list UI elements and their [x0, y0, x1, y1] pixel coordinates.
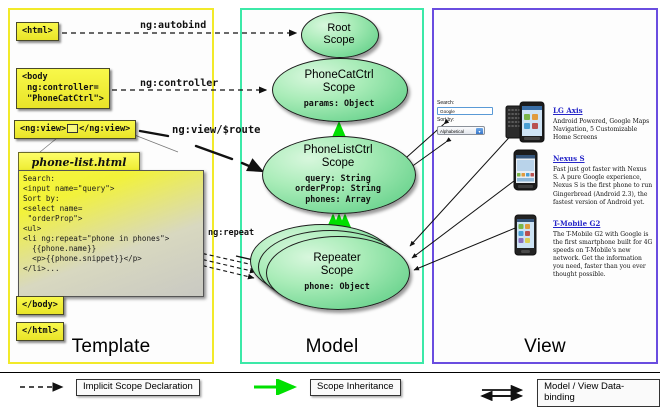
wire-label-autobind: ng:autobind [140, 20, 206, 31]
sort-select-value: Alphabetical [440, 129, 464, 134]
phone-snippet: Android Powered, Google Maps Navigation,… [553, 118, 653, 142]
scope-phonecatctrl-props: params: Object [304, 98, 375, 109]
phone-thumbnail-icon [505, 148, 545, 192]
tag-body-close: </body> [16, 296, 64, 315]
phone-list-template-note: phone-list.html Search: <input name="que… [18, 152, 196, 290]
search-label: Search: [437, 100, 497, 107]
phone-thumbnail-icon [505, 213, 545, 257]
legend-item-scope-inheritance: Scope Inheritance [252, 379, 401, 396]
tag-ngview-open: <ng:view> [20, 124, 66, 134]
wire-label-ngrepeat: ng:repeat [208, 228, 254, 238]
column-label-view: View [434, 336, 656, 358]
scope-repeater: Repeater Scope phone: Object [266, 236, 408, 308]
phone-name-link[interactable]: Nexus S [553, 154, 585, 163]
legend-label-data-binding: Model / View Data-binding [537, 379, 660, 407]
wire-label-ngview-route: ng:view/$route [172, 124, 261, 136]
scope-root-title: Root Scope [323, 22, 354, 47]
scope-phonecatctrl: PhoneCatCtrl Scope params: Object [272, 58, 406, 120]
wire-label-controller: ng:controller [140, 78, 218, 89]
phone-thumbnail-icon [505, 100, 545, 144]
sort-label: Sort by: [437, 117, 497, 124]
chevron-down-icon: ▾ [476, 128, 483, 135]
scope-phonelistctrl-title: PhoneListCtrl Scope [303, 144, 372, 170]
legend-item-implicit-scope: Implicit Scope Declaration [18, 379, 200, 396]
scope-repeater-props: phone: Object [304, 281, 370, 292]
double-arrow-icon [480, 385, 531, 401]
tag-ngview-close: </ng:view> [79, 124, 130, 134]
note-code: Search: <input name="query"> Sort by: <s… [18, 170, 204, 297]
list-item[interactable]: Nexus S Fast just got faster with Nexus … [505, 148, 653, 206]
phone-name-link[interactable]: LG Axis [553, 106, 583, 115]
legend-label-scope-inheritance: Scope Inheritance [310, 379, 401, 396]
tag-html-open: <html> [16, 22, 59, 41]
search-input[interactable]: Google [437, 107, 493, 115]
solid-arrow-icon [252, 379, 304, 395]
note-title: phone-list.html [18, 152, 140, 172]
legend: Implicit Scope Declaration Scope Inherit… [0, 372, 660, 406]
dashed-arrow-icon [18, 379, 70, 395]
scope-repeater-title: Repeater Scope [313, 252, 360, 278]
legend-label-implicit-scope: Implicit Scope Declaration [76, 379, 200, 396]
tag-body-open: <body ng:controller= "PhoneCatCtrl"> [16, 68, 110, 109]
legend-item-data-binding: Model / View Data-binding [480, 379, 660, 407]
column-label-model: Model [242, 336, 422, 358]
list-item[interactable]: LG Axis Android Powered, Google Maps Nav… [505, 100, 653, 142]
scope-phonelistctrl: PhoneListCtrl Scope query: String orderP… [262, 136, 414, 212]
scope-phonelistctrl-props: query: String orderProp: String phones: … [295, 173, 381, 205]
sort-select[interactable]: Alphabetical ▾ [437, 126, 485, 135]
tag-ngview: <ng:view></ng:view> [14, 120, 136, 139]
list-item[interactable]: T-Mobile G2 The T-Mobile G2 with Google … [505, 213, 653, 280]
scope-phonecatctrl-title: PhoneCatCtrl Scope [304, 69, 373, 95]
phone-name-link[interactable]: T-Mobile G2 [553, 219, 600, 228]
phone-snippet: Fast just got faster with Nexus S. A pur… [553, 166, 653, 206]
scope-root: Root Scope [301, 12, 377, 56]
view-search-form: Search: Google Sort by: Alphabetical ▾ [437, 100, 497, 135]
phone-snippet: The T-Mobile G2 with Google is the first… [553, 231, 653, 280]
tag-html-close: </html> [16, 322, 64, 341]
phone-list: LG Axis Android Powered, Google Maps Nav… [505, 100, 653, 285]
ngview-placeholder-icon [67, 124, 78, 133]
